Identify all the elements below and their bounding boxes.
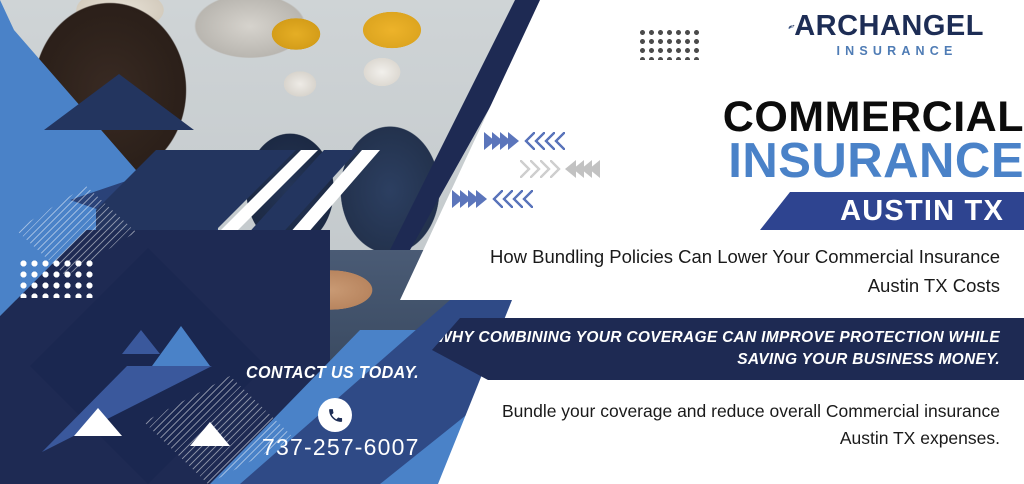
insurance-marketing-banner: ARCHANGEL INSURANCE COMMERCIAL INSURANCE… (0, 0, 1024, 484)
chevron-right-outline-icon (554, 132, 565, 150)
contact-us-label: CONTACT US TODAY. (246, 362, 419, 383)
chevron-left-outline-icon (550, 160, 561, 178)
subtitle-text: How Bundling Policies Can Lower Your Com… (480, 243, 1000, 300)
location-label: AUSTIN TX (840, 197, 1024, 226)
chevron-row-middle (520, 160, 600, 178)
quote-banner-text: WHY COMBINING YOUR COVERAGE CAN IMPROVE … (432, 327, 1024, 372)
dot-grid-left-icon (18, 258, 96, 298)
chevron-left-solid-icon (589, 160, 600, 178)
phone-number[interactable]: 737-257-6007 (262, 434, 420, 461)
location-banner: AUSTIN TX (760, 192, 1024, 230)
body-copy-text: Bundle your coverage and reduce overall … (500, 398, 1000, 452)
phone-icon (327, 407, 344, 424)
headline-line-2: INSURANCE (600, 137, 1024, 186)
phone-icon-circle[interactable] (318, 398, 352, 432)
blue-left-edge-fill (0, 230, 16, 270)
quote-banner: WHY COMBINING YOUR COVERAGE CAN IMPROVE … (432, 318, 1024, 380)
chevron-right-outline-icon (522, 190, 533, 208)
chevron-row-top (484, 132, 564, 150)
chevron-row-bottom (452, 190, 532, 208)
headline-line-1: COMMERCIAL (600, 96, 1024, 139)
